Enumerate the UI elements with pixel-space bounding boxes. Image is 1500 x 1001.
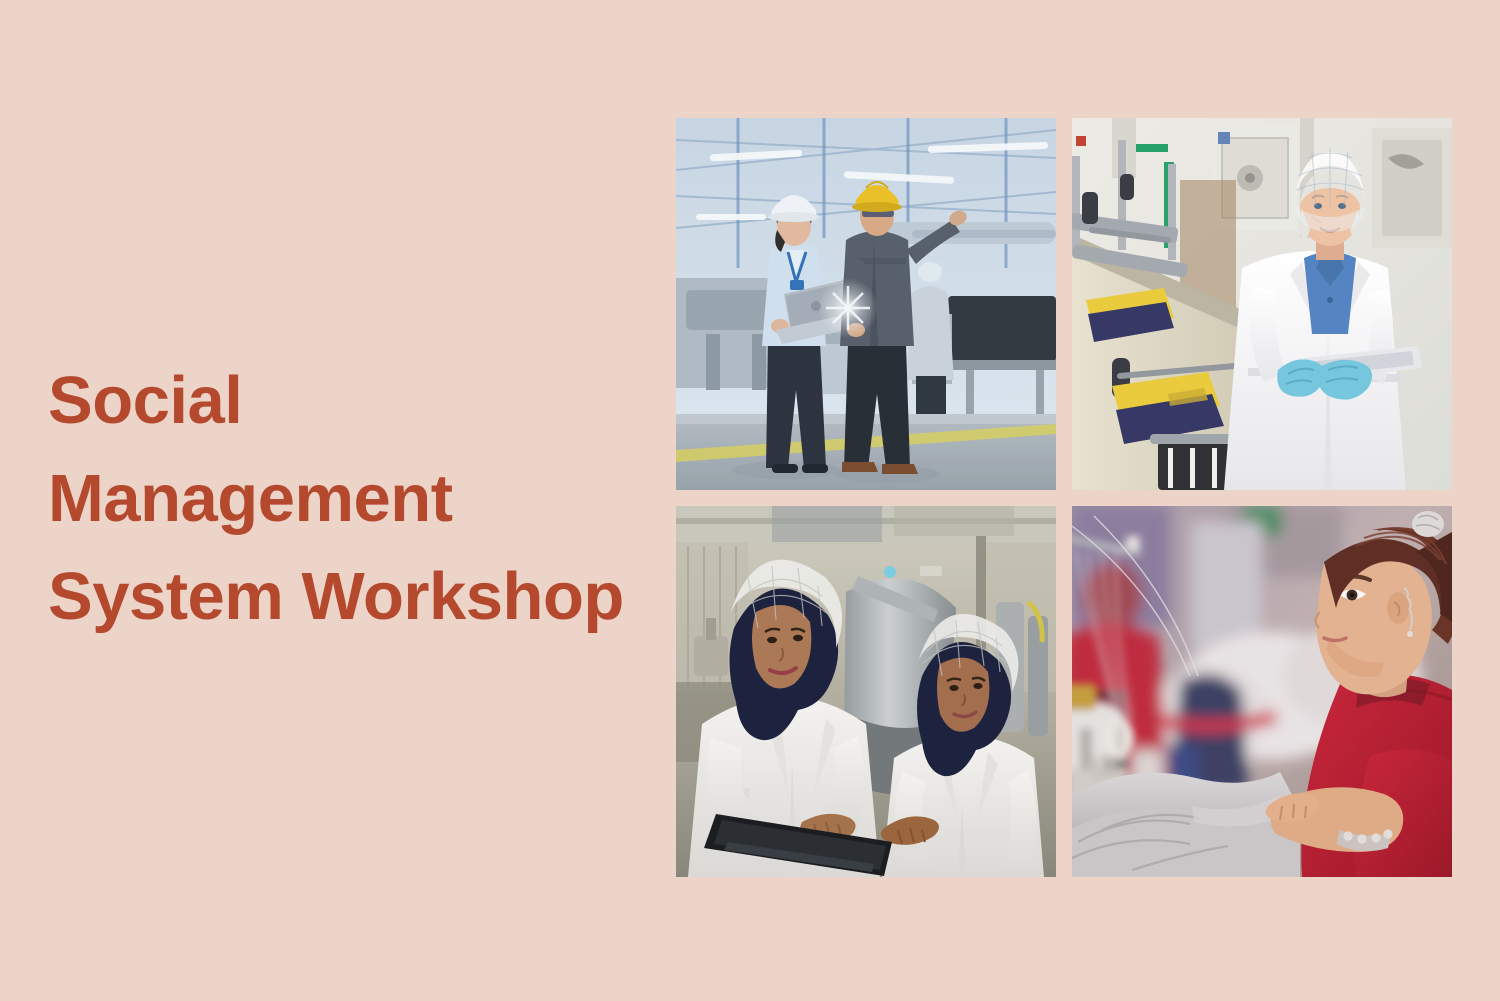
photo-grid: Two factory staff on a production floor:… bbox=[676, 118, 1452, 877]
photo-packaging-line-quality-check: Senior woman in a white lab coat, hairne… bbox=[1072, 118, 1452, 490]
photo-factory-floor-inspection-art bbox=[676, 118, 1056, 490]
title-line-1: Social bbox=[48, 352, 668, 450]
page-title: Social Management System Workshop bbox=[48, 352, 668, 646]
photo-lab-coat-tablet-review-art bbox=[676, 506, 1056, 877]
photo-garment-factory-sewing-station: Young woman in a red top sewing grey fab… bbox=[1072, 506, 1452, 877]
photo-garment-factory-sewing-station-art bbox=[1072, 506, 1452, 877]
photo-packaging-line-quality-check-art bbox=[1072, 118, 1452, 490]
photo-factory-floor-inspection: Two factory staff on a production floor:… bbox=[676, 118, 1056, 490]
title-line-2: Management bbox=[48, 450, 668, 548]
title-line-3: System Workshop bbox=[48, 548, 668, 646]
photo-lab-coat-tablet-review: Two women in white lab coats wearing nav… bbox=[676, 506, 1056, 877]
